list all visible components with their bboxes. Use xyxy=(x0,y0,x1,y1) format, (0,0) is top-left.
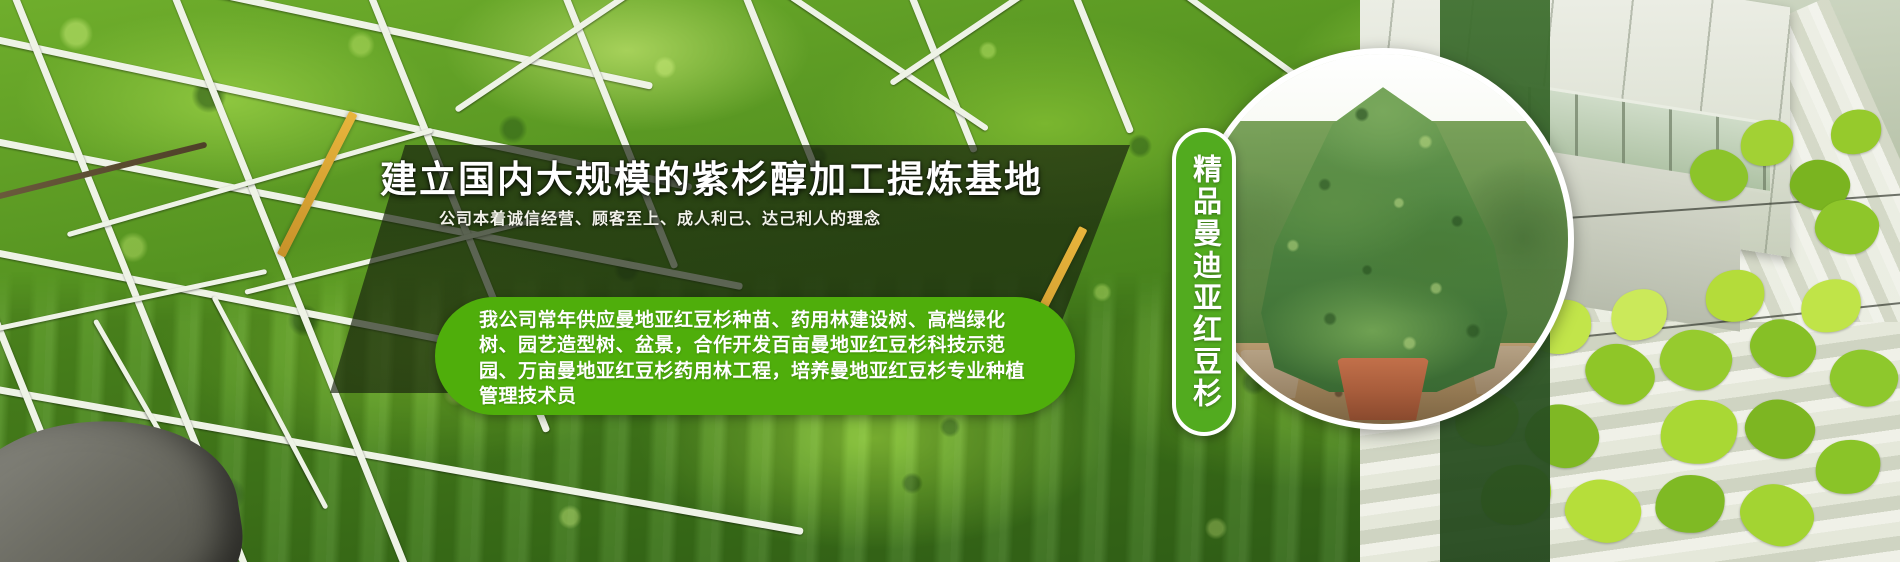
page-title: 建立国内大规模的紫杉醇加工提炼基地 xyxy=(380,158,940,202)
promo-banner: 建立国内大规模的紫杉醇加工提炼基地 公司本着诚信经营、顾客至上、成人利己、达己利… xyxy=(0,0,1900,562)
photo-terracotta-pot xyxy=(1337,358,1429,420)
vertical-product-label: 精品曼迪亚红豆杉 xyxy=(1172,128,1236,436)
description-text: 我公司常年供应曼地亚红豆杉种苗、药用林建设树、高档绿化树、园艺造型树、盆景，合作… xyxy=(479,308,1039,409)
description-pill-box: 我公司常年供应曼地亚红豆杉种苗、药用林建设树、高档绿化树、园艺造型树、盆景，合作… xyxy=(435,297,1075,415)
potted-yew-tree-photo xyxy=(1192,48,1574,430)
vertical-label-text: 精品曼迪亚红豆杉 xyxy=(1190,154,1219,410)
page-subtitle: 公司本着诚信经营、顾客至上、成人利己、达己利人的理念 xyxy=(380,205,940,229)
